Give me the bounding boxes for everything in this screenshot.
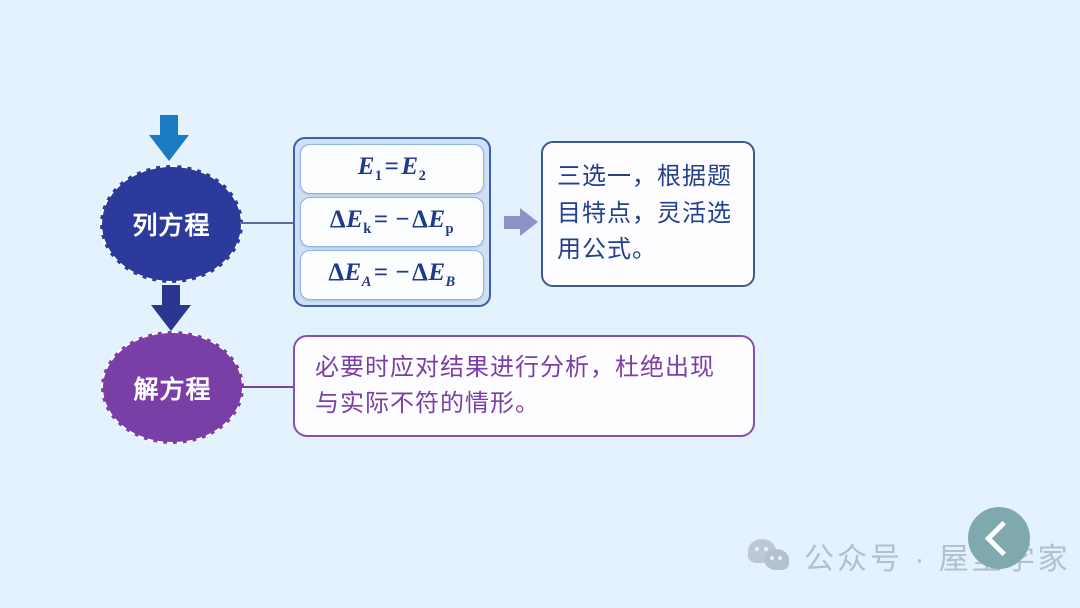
wechat-dot — [764, 547, 768, 551]
node-jie-fangcheng-label: 解方程 — [133, 370, 211, 406]
node-lie-fangcheng-label: 列方程 — [132, 206, 210, 242]
wechat-dot — [755, 547, 759, 551]
watermark-text: 公众号 · 屋里学家 — [804, 534, 1071, 578]
connector-lie-to-formulas — [240, 222, 296, 224]
note-solve-text: 必要时应对结果进行分析，杜绝出现与实际不符的情形。 — [315, 350, 733, 423]
connector-jie-to-note — [241, 386, 297, 388]
wechat-bubble-small — [764, 549, 789, 570]
wechat-dot — [770, 556, 774, 560]
wechat-icon — [748, 539, 792, 573]
arrow-head — [151, 305, 191, 331]
arrow-shaft — [504, 216, 521, 229]
arrow-right-to-note — [504, 208, 538, 236]
arrow-down-into-lie-fangcheng — [149, 115, 189, 161]
formula-object-a-b: ΔEA= −ΔEB — [328, 259, 455, 291]
note-formula-choice-text: 三选一，根据题目特点，灵活选用公式。 — [557, 159, 739, 268]
chevron-left-icon — [984, 520, 1019, 555]
wechat-dot — [778, 556, 782, 560]
arrow-shaft — [162, 285, 180, 307]
formula-stack: E1=E2 ΔEk= −ΔEp ΔEA= −ΔEB — [293, 137, 491, 307]
arrow-head — [149, 135, 189, 161]
arrow-shaft — [160, 115, 178, 137]
note-formula-choice: 三选一，根据题目特点，灵活选用公式。 — [541, 141, 755, 287]
node-lie-fangcheng[interactable]: 列方程 — [100, 165, 243, 283]
formula-kinetic-potential: ΔEk= −ΔEp — [330, 206, 454, 238]
formula-box-energy-conservation[interactable]: E1=E2 — [300, 144, 484, 194]
formula-box-object-a-b[interactable]: ΔEA= −ΔEB — [300, 250, 484, 300]
note-solve: 必要时应对结果进行分析，杜绝出现与实际不符的情形。 — [293, 335, 755, 437]
arrow-down-lie-to-jie — [151, 285, 191, 331]
formula-box-kinetic-potential[interactable]: ΔEk= −ΔEp — [300, 197, 484, 247]
formula-energy-conservation: E1=E2 — [358, 153, 427, 185]
slide-canvas: 列方程 E1=E2 ΔEk= −ΔEp ΔEA= −ΔEB 三选一，根据题目特点… — [0, 0, 1080, 608]
back-button[interactable] — [968, 507, 1030, 569]
node-jie-fangcheng[interactable]: 解方程 — [101, 331, 244, 444]
arrow-head — [520, 208, 538, 236]
